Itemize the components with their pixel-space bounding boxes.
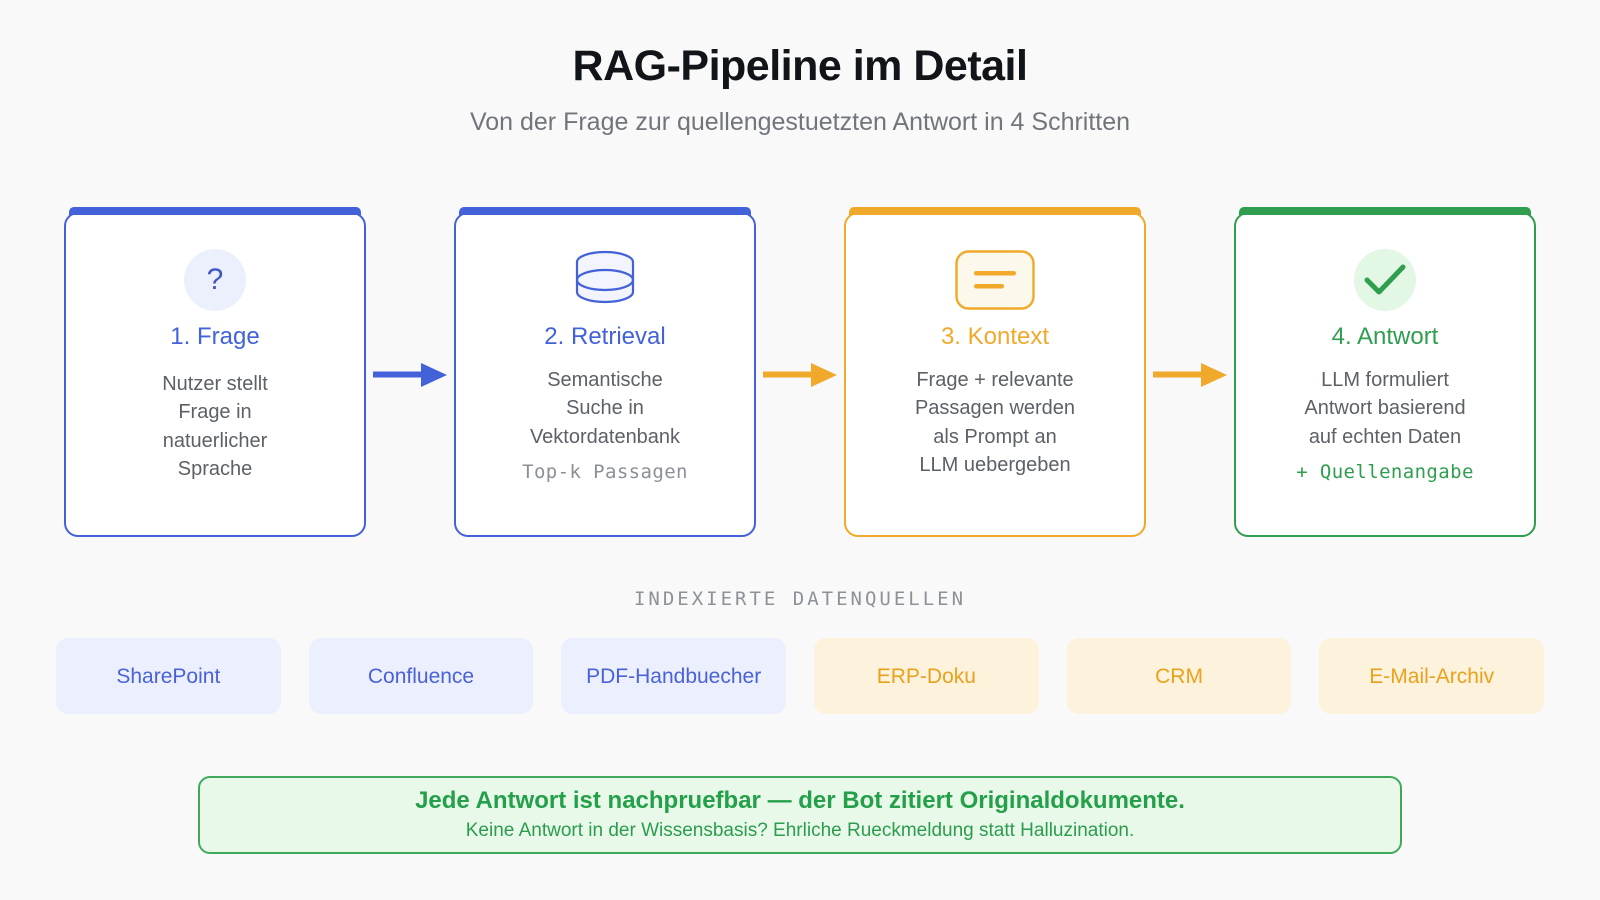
pipeline-card-step-3[interactable]: 3. Kontext Frage + relevantePassagen wer… [844,212,1146,537]
verifiability-banner: Jede Antwort ist nachpruefbar — der Bot … [198,776,1402,854]
step-2-icon-wrap [573,244,637,316]
pipeline-steps: ? 1. Frage Nutzer stelltFrage innatuerli… [0,212,1600,537]
source-chip-crm[interactable]: CRM [1067,638,1292,714]
step-4-title: 4. Antwort [1332,322,1439,352]
source-chip-pdf-handbuecher[interactable]: PDF-Handbuecher [561,638,786,714]
step-4-description: LLM formuliertAntwort basierendauf echte… [1304,366,1465,451]
step-3-icon-wrap [955,244,1035,316]
step-1-description: Nutzer stelltFrage innatuerlicherSprache [162,370,268,484]
page-subtitle: Von der Frage zur quellengestuetzten Ant… [0,107,1600,137]
pipeline-infographic: RAG-Pipeline im Detail Von der Frage zur… [0,0,1600,900]
source-chip-erp-doku[interactable]: ERP-Doku [814,638,1039,714]
step-4-icon-wrap [1354,244,1416,316]
step-2-mono-note: Top-k Passagen [522,461,688,483]
step-2-title: 2. Retrieval [544,322,665,352]
pipeline-card-step-1[interactable]: ? 1. Frage Nutzer stelltFrage innatuerli… [64,212,366,537]
question-mark-circle-icon: ? [184,249,246,311]
step-2-description: SemantischeSuche inVektordatenbank [530,366,680,451]
step-1-title: 1. Frage [170,322,259,352]
step-3-title: 3. Kontext [941,322,1049,352]
header: RAG-Pipeline im Detail Von der Frage zur… [0,0,1600,137]
prompt-document-icon [955,250,1035,310]
check-circle-icon [1354,249,1416,311]
step-1-icon-wrap: ? [184,244,246,316]
source-chips: SharePoint Confluence PDF-Handbuecher ER… [56,638,1544,714]
step-3-description: Frage + relevantePassagen werdenals Prom… [915,366,1075,480]
database-cylinder-icon [573,250,637,310]
banner-headline: Jede Antwort ist nachpruefbar — der Bot … [415,788,1185,814]
pipeline-card-step-4[interactable]: 4. Antwort LLM formuliertAntwort basiere… [1234,212,1536,537]
arrow-step2-to-step3 [756,212,844,537]
source-chip-confluence[interactable]: Confluence [309,638,534,714]
step-4-mono-note: + Quellenangabe [1296,461,1474,483]
arrow-step3-to-step4 [1146,212,1234,537]
arrow-step1-to-step2 [366,212,454,537]
source-chip-email-archiv[interactable]: E-Mail-Archiv [1319,638,1544,714]
banner-subtext: Keine Antwort in der Wissensbasis? Ehrli… [466,821,1135,842]
source-chip-sharepoint[interactable]: SharePoint [56,638,281,714]
page-title: RAG-Pipeline im Detail [0,42,1600,91]
pipeline-card-step-2[interactable]: 2. Retrieval SemantischeSuche inVektorda… [454,212,756,537]
sources-section-label: INDEXIERTE DATENQUELLEN [0,588,1600,610]
